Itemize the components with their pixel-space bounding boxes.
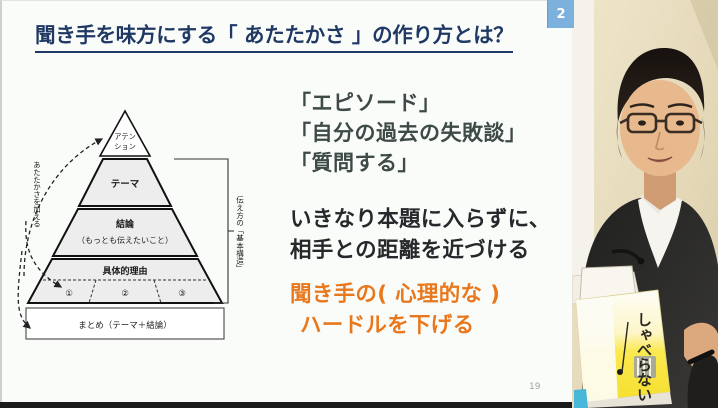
slide-bottom-bar: [0, 402, 572, 408]
pyramid-diagram: アテン ション テーマ 結論 （もっとも伝えたいこと） 具体的理由 ① ② ③: [14, 101, 266, 351]
pyramid-summary-label: まとめ（テーマ＋結論）: [78, 320, 172, 331]
warmth-label: あたたかさを加える: [32, 161, 41, 228]
presentation-slide: 聞き手を味方にする「 あたたかさ 」の作り方とは？ アテン ション テーマ 結論: [0, 0, 572, 402]
book-bottom-edge: [574, 389, 588, 408]
pyramid-conclusion-label: 結論: [116, 218, 135, 230]
presenter-eye-right: [676, 120, 684, 125]
quote-line-3: 「質問する」: [290, 149, 527, 179]
body-orange-line-1: 聞き手の( 心理的な ): [290, 279, 500, 310]
body-dark-line-2: 相手との距離を近づける: [290, 235, 551, 266]
pyramid-reason-marker-3: ③: [178, 289, 186, 299]
pyramid-theme-label: テーマ: [111, 179, 140, 190]
slide-title: 聞き手を味方にする「 あたたかさ 」の作り方とは？: [35, 18, 513, 53]
pyramid-apex-label-line1: アテン: [114, 132, 136, 141]
presenter-eye-left: [638, 120, 646, 125]
pyramid-level-conclusion: [53, 209, 197, 256]
presenter-video-panel[interactable]: しゃべらない: [572, 0, 718, 408]
body-dark-line-1: いきなり本題に入らずに、: [290, 204, 551, 235]
slide-page-number: 19: [529, 382, 540, 392]
pyramid-reason-marker-2: ②: [121, 289, 129, 299]
pyramid-apex-label-line2: ション: [114, 142, 136, 151]
quote-line-2: 「自分の過去の失敗談」: [290, 119, 527, 149]
page-badge[interactable]: 2: [547, 0, 574, 28]
body-text-dark: いきなり本題に入らずに、 相手との距離を近づける: [290, 204, 551, 266]
quote-line-1: 「エピソード」: [290, 89, 527, 119]
book-title-text: しゃべらない: [635, 312, 653, 402]
quote-list: 「エピソード」 「自分の過去の失敗談」 「質問する」: [290, 89, 527, 178]
pyramid-conclusion-sublabel: （もっとも伝えたいこと）: [77, 235, 173, 245]
screen: 聞き手を味方にする「 あたたかさ 」の作り方とは？ アテン ション テーマ 結論: [0, 0, 718, 408]
pyramid-reasons-label: 具体的理由: [101, 265, 147, 277]
pyramid-reason-marker-1: ①: [65, 289, 73, 299]
body-orange-line-2: ハードルを下げる: [290, 310, 500, 341]
body-text-highlight: 聞き手の( 心理的な ) ハードルを下げる: [290, 279, 500, 341]
structure-bracket-label: 伝え方の「基本構造」: [235, 195, 244, 272]
book-cover: しゃべらない: [574, 290, 672, 408]
